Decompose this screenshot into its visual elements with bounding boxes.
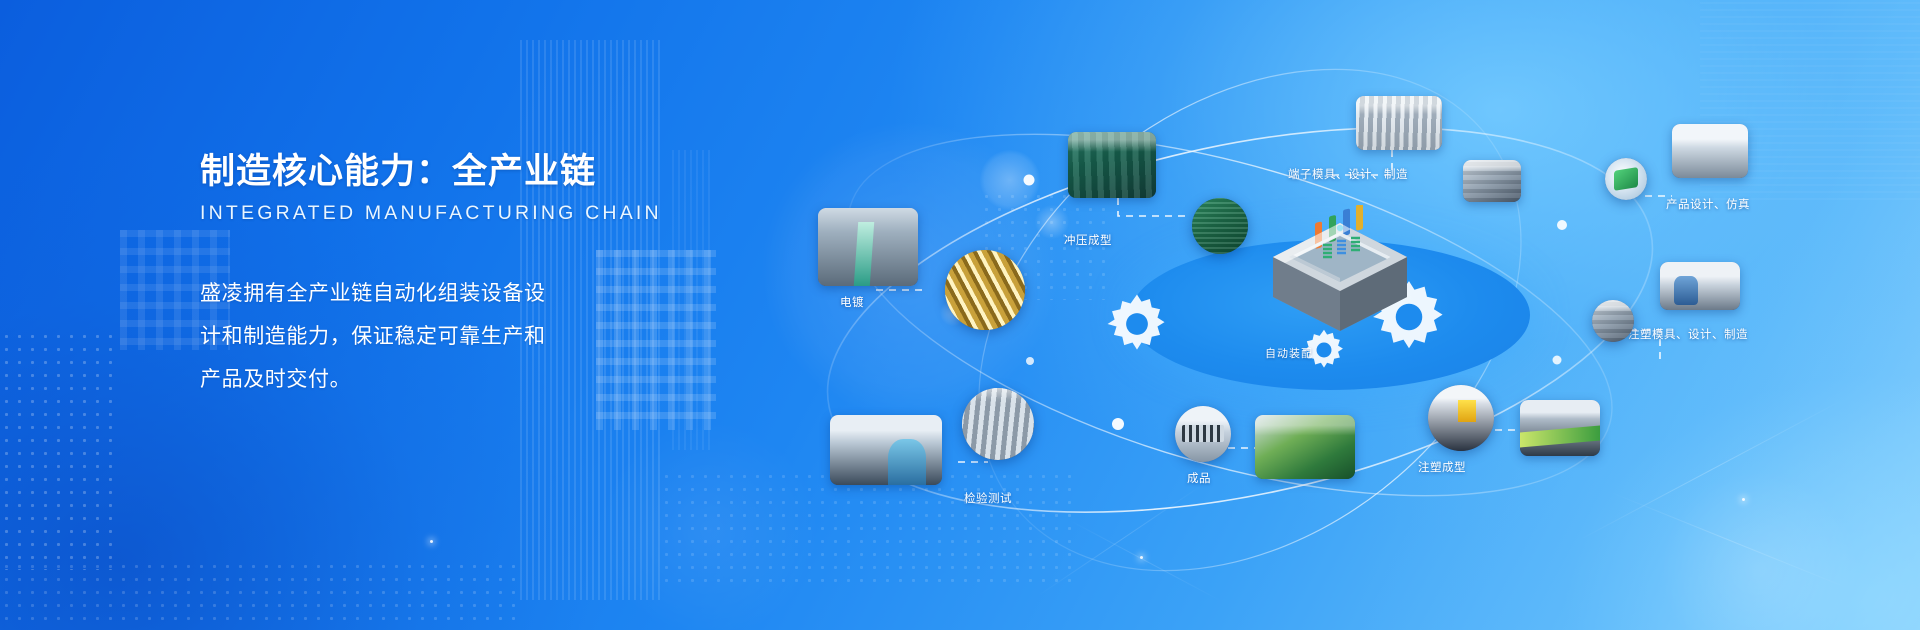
node-terminal-mold-detail-photo — [1463, 160, 1521, 202]
node-plating[interactable]: 电镀 — [818, 208, 918, 286]
node-inspection-test[interactable]: 检验测试 — [830, 415, 942, 485]
node-terminal-mold-label: 端子模具、设计、制造 — [1288, 166, 1408, 182]
banner-description: 盛凌拥有全产业链自动化组装设备设计和制造能力，保证稳定可靠生产和产品及时交付。 — [200, 272, 565, 401]
node-injection-mold-label: 注塑模具、设计、制造 — [1628, 326, 1748, 342]
node-inspection-test-label: 检验测试 — [964, 490, 1012, 506]
node-terminal-mold-photo — [1356, 96, 1442, 150]
node-plated-part-photo — [945, 250, 1025, 330]
node-stamping-photo — [1068, 132, 1156, 198]
node-3d-model-photo — [1605, 158, 1647, 200]
node-injection-molding-line-photo — [1520, 400, 1600, 456]
node-injection-mold-detail[interactable] — [1592, 300, 1634, 342]
node-stamping-detail-photo — [1192, 198, 1248, 254]
node-terminal-mold-detail[interactable] — [1463, 160, 1521, 202]
node-inspection-test-photo — [830, 415, 942, 485]
node-injection-mold-photo — [1660, 262, 1740, 310]
node-plated-part[interactable] — [945, 250, 1025, 330]
gear-icon-left — [1105, 292, 1169, 356]
node-finished-product-line[interactable] — [1255, 415, 1355, 479]
node-stamping-detail[interactable] — [1192, 198, 1248, 254]
hub-label: 自动装配 — [1265, 345, 1313, 361]
node-injection-molding-photo — [1428, 385, 1494, 451]
node-terminal-mold[interactable]: 端子模具、设计、制造 — [1356, 96, 1442, 150]
banner-copy: 制造核心能力：全产业链 INTEGRATED MANUFACTURING CHA… — [200, 150, 820, 401]
node-inspection-rack-photo — [962, 388, 1034, 460]
node-injection-molding-line[interactable] — [1520, 400, 1600, 456]
node-injection-molding-label: 注塑成型 — [1418, 459, 1466, 475]
node-product-design[interactable]: 产品设计、仿真 — [1672, 124, 1748, 178]
node-stamping[interactable]: 冲压成型 — [1068, 132, 1156, 198]
node-injection-mold[interactable]: 注塑模具、设计、制造 — [1660, 262, 1740, 310]
node-inspection-rack[interactable] — [962, 388, 1034, 460]
diagram-hub — [1160, 240, 1520, 390]
page-subtitle: INTEGRATED MANUFACTURING CHAIN — [200, 202, 820, 225]
node-injection-molding[interactable]: 注塑成型 — [1428, 385, 1494, 451]
node-product-design-photo — [1672, 124, 1748, 178]
node-stamping-label: 冲压成型 — [1064, 232, 1112, 248]
page-title: 制造核心能力：全产业链 — [200, 150, 820, 194]
node-finished-product-photo — [1175, 406, 1231, 462]
node-finished-product-line-photo — [1255, 415, 1355, 479]
node-finished-product-label: 成品 — [1187, 470, 1211, 486]
node-plating-photo — [818, 208, 918, 286]
node-product-design-3dmodel[interactable] — [1605, 158, 1647, 200]
banner-stage: 制造核心能力：全产业链 INTEGRATED MANUFACTURING CHA… — [0, 0, 1920, 630]
node-injection-mold-detail-photo — [1592, 300, 1634, 342]
node-finished-product[interactable]: 成品 — [1175, 406, 1231, 462]
automatic-assembly-machine — [1255, 205, 1425, 335]
node-plating-label: 电镀 — [840, 294, 864, 310]
node-product-design-label: 产品设计、仿真 — [1666, 196, 1750, 212]
